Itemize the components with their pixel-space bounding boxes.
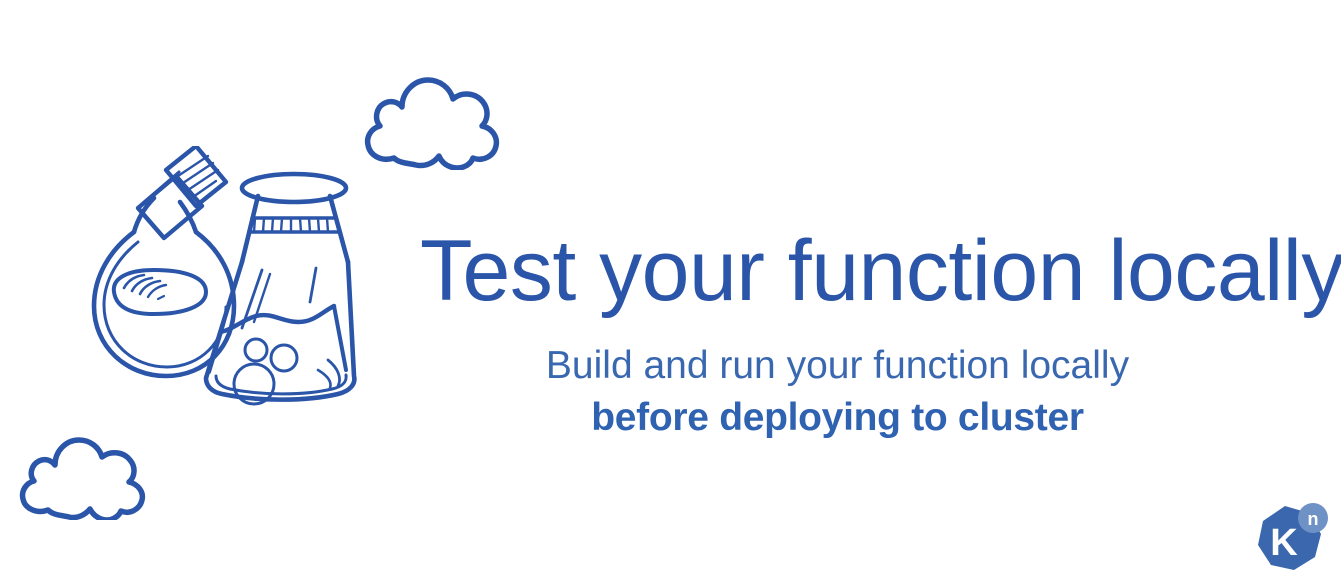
logo-letter-n: n	[1308, 509, 1319, 529]
cloud-outline-icon	[8, 428, 156, 520]
slide-canvas: Test your function locally Build and run…	[0, 0, 1341, 585]
knative-logo: K n	[1251, 500, 1331, 578]
laboratory-flasks-icon	[66, 146, 386, 414]
logo-letter-k: K	[1270, 522, 1298, 564]
subtitle-group: Build and run your function locally befo…	[420, 340, 1255, 444]
subtitle-line-1: Build and run your function locally	[420, 340, 1255, 392]
subtitle-line-2: before deploying to cluster	[420, 392, 1255, 444]
cloud-outline-icon	[352, 62, 510, 170]
headline-group: Test your function locally Build and run…	[420, 228, 1255, 444]
page-title: Test your function locally	[420, 228, 1255, 314]
